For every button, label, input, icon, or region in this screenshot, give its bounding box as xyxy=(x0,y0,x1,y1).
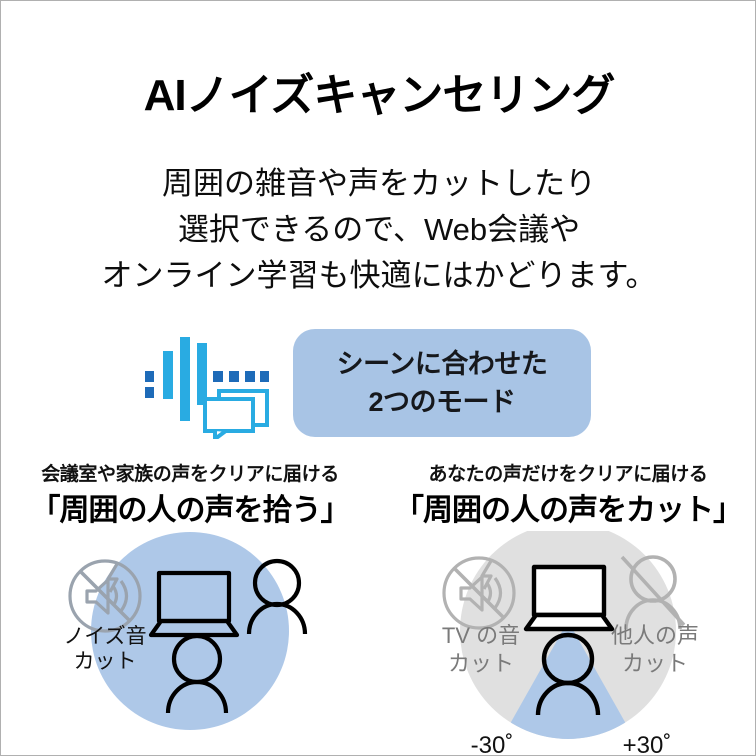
badge-row: シーンに合わせた 2つのモード xyxy=(1,329,756,441)
cut-left-label-line2: カット xyxy=(448,651,514,676)
mode-pickup-headline: 「周囲の人の声を拾う」 xyxy=(1,485,379,529)
mode-cut-headline: 「周囲の人の声をカット」 xyxy=(379,485,756,529)
sound-wave-chat-icon xyxy=(143,333,271,439)
feature-infographic: AIノイズキャンセリング 周囲の雑音や声をカットしたり 選択できるので、Web会… xyxy=(0,0,756,756)
mode-panel-cut: あなたの声だけをクリアに届ける 「周囲の人の声をカット」 xyxy=(379,459,756,756)
cut-right-label-line2: カット xyxy=(622,651,688,676)
badge-text: シーンに合わせた 2つのモード xyxy=(293,345,591,421)
laptop-icon xyxy=(526,567,612,629)
angle-label-right: +30˚ xyxy=(623,732,672,756)
mode-pickup-diagram: ノイズ音 カット xyxy=(1,531,379,756)
mode-panel-pickup: 会議室や家族の声をクリアに届ける 「周囲の人の声を拾う」 ノイズ音 カット xyxy=(1,459,379,756)
mode-pickup-subtitle: 会議室や家族の声をクリアに届ける xyxy=(1,459,379,486)
badge-line-2: 2つのモード xyxy=(293,383,591,421)
page-title: AIノイズキャンセリング xyxy=(1,59,756,123)
pickup-noise-label-line2: カット xyxy=(74,650,137,673)
angle-label-left: -30˚ xyxy=(471,732,514,756)
lead-paragraph: 周囲の雑音や声をカットしたり 選択できるので、Web会議や オンライン学習も快適… xyxy=(1,161,756,299)
lead-line-2: 選択できるので、Web会議や xyxy=(1,207,756,253)
lead-line-1: 周囲の雑音や声をカットしたり xyxy=(1,161,756,207)
lead-line-3: オンライン学習も快適にはかどります。 xyxy=(1,253,756,299)
pickup-noise-label-line1: ノイズ音 xyxy=(63,625,146,648)
cut-left-label-line1: TV の音 xyxy=(442,623,520,648)
mode-cut-diagram: TV の音 カット 他人の声 カット -30˚ +30˚ xyxy=(379,531,756,756)
mode-cut-subtitle: あなたの声だけをクリアに届ける xyxy=(379,459,756,486)
cut-right-label-line1: 他人の声 xyxy=(611,623,699,648)
badge-line-1: シーンに合わせた xyxy=(293,345,591,383)
mode-count-badge: シーンに合わせた 2つのモード xyxy=(293,329,591,437)
